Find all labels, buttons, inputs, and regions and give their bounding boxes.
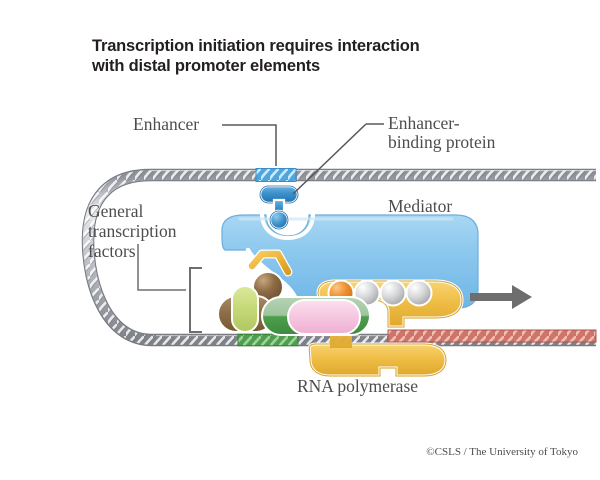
copyright-credit: ©CSLS / The University of Tokyo [426, 446, 578, 458]
direction-arrow [470, 285, 532, 309]
label-rna-polymerase: RNA polymerase [297, 377, 418, 396]
enhancer-segment [256, 169, 296, 182]
label-enhancer-binding-protein: Enhancer- binding protein [388, 114, 495, 152]
label-general-transcription-factors: General transcription factors [88, 201, 176, 261]
rna-transcript [388, 330, 596, 342]
label-mediator: Mediator [388, 197, 452, 216]
figure-canvas: Transcription initiation requires intera… [0, 0, 600, 480]
label-enhancer: Enhancer [133, 115, 199, 134]
